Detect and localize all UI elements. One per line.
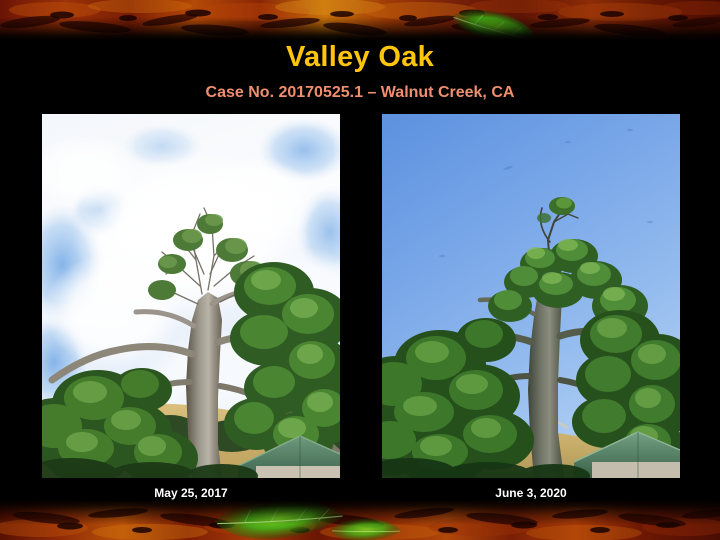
autumn-leaf-border-top (0, 0, 720, 40)
green-leaf-accent-top (448, 3, 544, 40)
page-title: Valley Oak (0, 42, 720, 72)
slide: Valley Oak Case No. 20170525.1 – Walnut … (0, 0, 720, 540)
green-leaf-accent-bottom (212, 500, 346, 540)
leaf-texture-top-graphic (0, 0, 720, 40)
leaf-fade-bottom (0, 500, 720, 540)
photo-right-2020[interactable] (382, 114, 680, 478)
tree-photo-2017-graphic (42, 114, 340, 478)
page-subtitle: Case No. 20170525.1 – Walnut Creek, CA (0, 84, 720, 102)
leaf-fade-top (0, 0, 720, 40)
photo-left-2017[interactable] (42, 114, 340, 478)
tree-photo-2020-graphic (382, 114, 680, 478)
green-leaf-accent-bottom-small (329, 516, 402, 540)
caption-right-date: June 3, 2020 (382, 487, 680, 500)
caption-left-date: May 25, 2017 (42, 487, 340, 500)
leaf-texture-bottom-graphic (0, 500, 720, 540)
autumn-leaf-border-bottom (0, 500, 720, 540)
